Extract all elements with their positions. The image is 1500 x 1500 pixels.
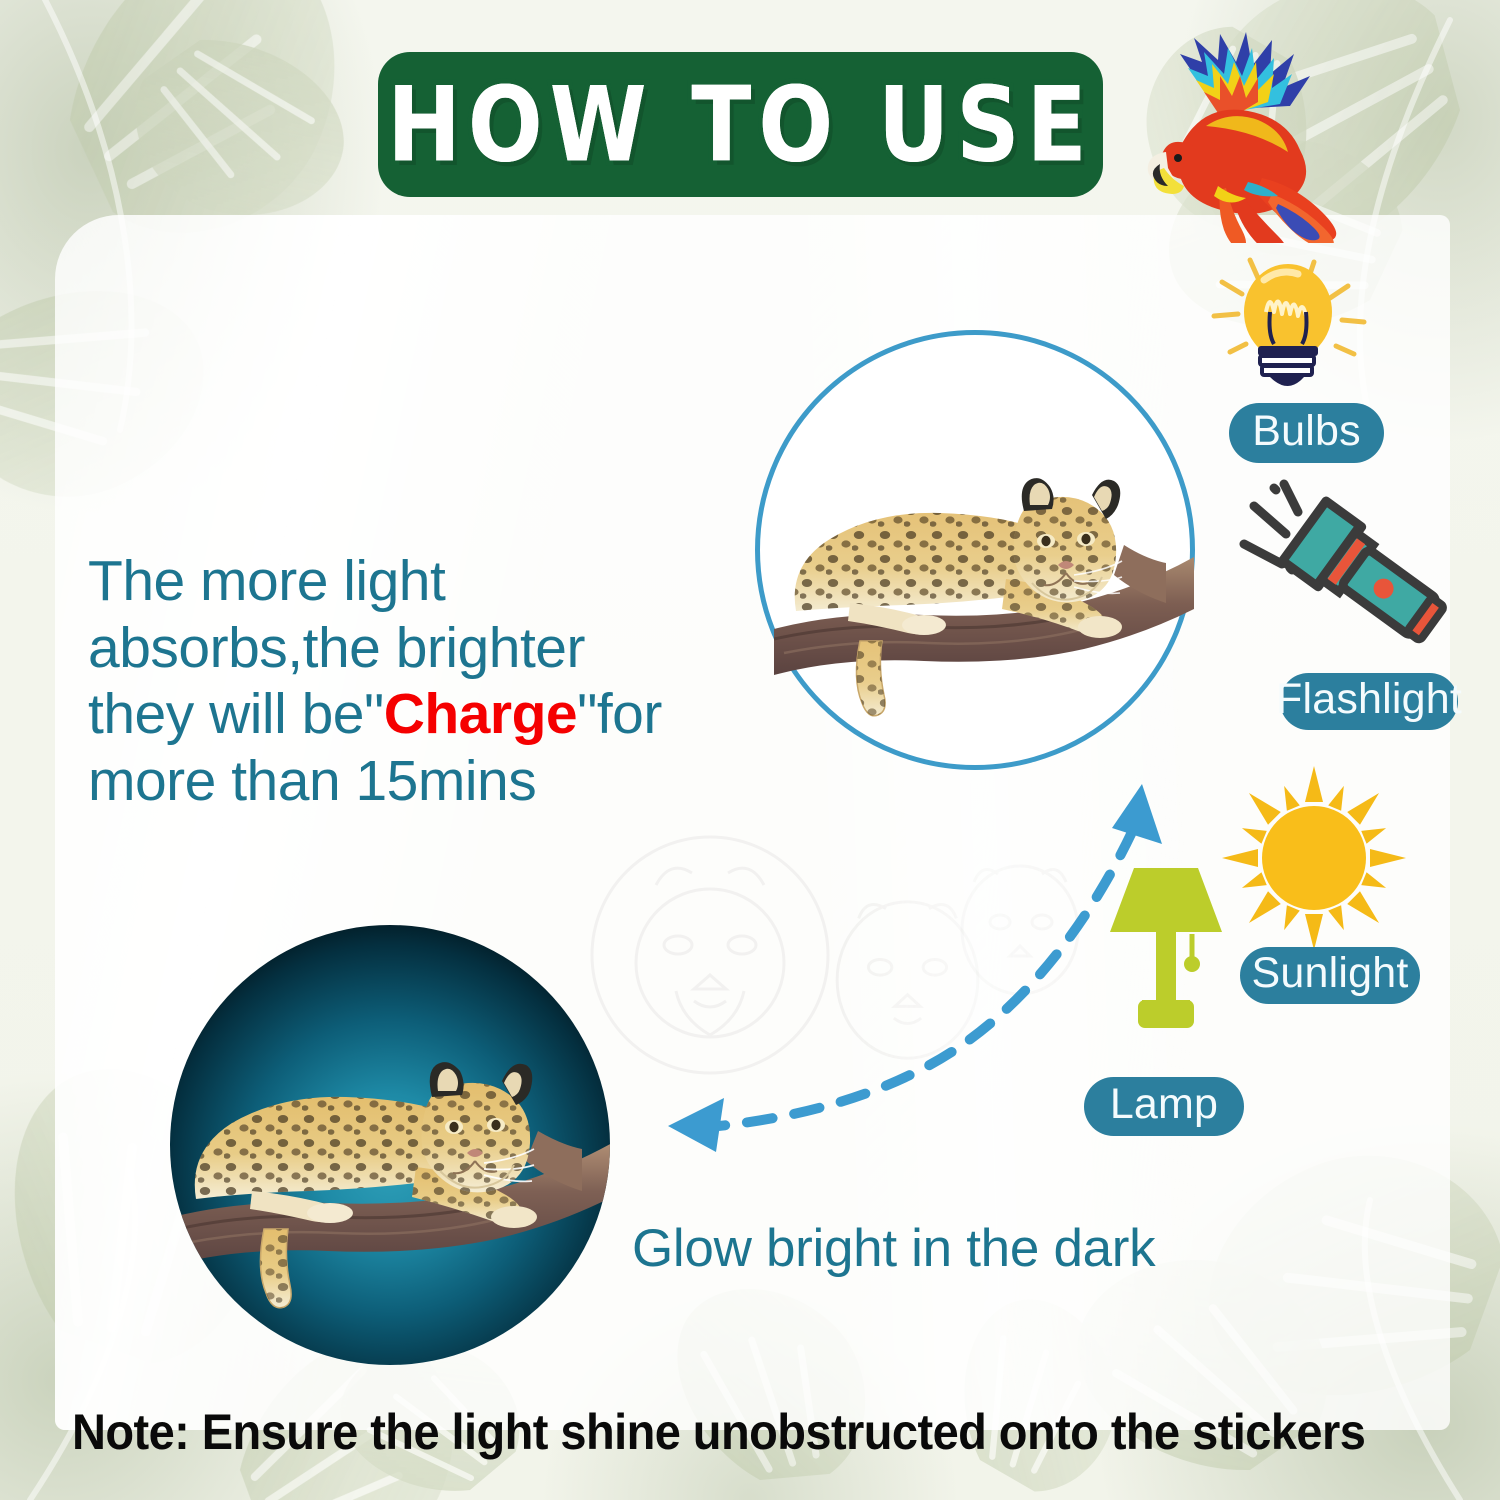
label-sunlight-text: Sunlight xyxy=(1252,949,1409,998)
instruction-line-3-prefix: they will be" xyxy=(88,682,384,746)
leopard-daylight-circle xyxy=(755,330,1195,770)
label-lamp: Lamp xyxy=(1084,1077,1244,1136)
lightbulb-icon xyxy=(1196,250,1386,405)
instruction-line-3: they will be"Charge"for xyxy=(88,681,818,748)
table-lamp-icon xyxy=(1086,858,1246,1083)
label-flashlight: Flashlight xyxy=(1280,673,1458,730)
leopard-on-branch-image xyxy=(774,433,1194,723)
how-to-use-banner: HOW TO USE xyxy=(378,52,1103,197)
leopard-glowing-image xyxy=(172,1017,610,1317)
instruction-line-1: The more light xyxy=(88,548,818,615)
label-lamp-text: Lamp xyxy=(1110,1080,1218,1129)
glow-caption: Glow bright in the dark xyxy=(632,1218,1155,1279)
leopard-glow-circle xyxy=(170,925,610,1365)
label-bulbs: Bulbs xyxy=(1229,403,1384,463)
note-text: Note: Ensure the light shine unobstructe… xyxy=(72,1403,1369,1461)
label-sunlight: Sunlight xyxy=(1240,947,1420,1004)
charge-highlight: Charge xyxy=(384,682,577,746)
label-bulbs-text: Bulbs xyxy=(1252,407,1361,456)
parrot-icon xyxy=(1122,18,1337,243)
page-title: HOW TO USE xyxy=(387,64,1094,186)
instruction-line-3-suffix: "for xyxy=(577,682,662,746)
instruction-line-2: absorbs,the brighter xyxy=(88,615,818,682)
label-flashlight-text: Flashlight xyxy=(1276,675,1462,724)
flashlight-icon xyxy=(1238,468,1473,663)
